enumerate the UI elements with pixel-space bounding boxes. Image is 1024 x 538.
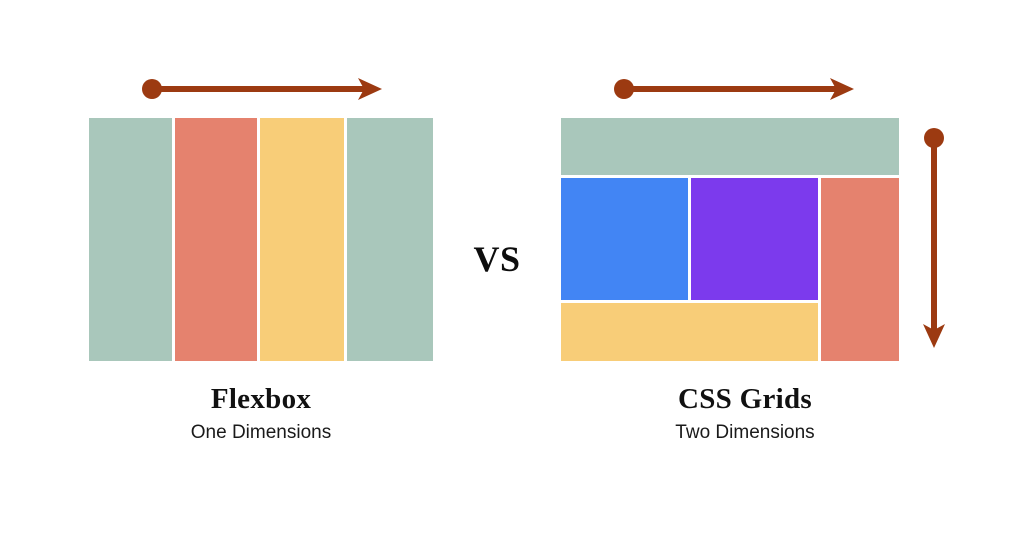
flexbox-main-axis-arrow-icon	[140, 76, 386, 104]
flexbox-title: Flexbox	[81, 382, 441, 416]
versus-label: VS	[457, 238, 537, 280]
cssgrids-title: CSS Grids	[565, 382, 925, 416]
flexbox-subtitle: One Dimensions	[81, 420, 441, 446]
grid-header-cell	[561, 118, 899, 175]
flexbox-diagram	[89, 118, 433, 361]
flexbox-column-1	[89, 118, 172, 361]
grid-blue-cell	[561, 178, 688, 300]
flexbox-column-4	[347, 118, 433, 361]
grid-purple-cell	[691, 178, 818, 300]
cssgrids-subtitle: Two Dimensions	[565, 420, 925, 446]
grid-footer-cell	[561, 303, 818, 361]
cssgrids-label-group: CSS Grids Two Dimensions	[565, 382, 925, 446]
flexbox-column-3	[260, 118, 344, 361]
infographic-canvas: VS Flexbox One Dimensions CSS Grids Two …	[0, 0, 1024, 538]
grid-side-cell	[821, 178, 899, 361]
grid-column-axis-arrow-icon	[920, 126, 948, 354]
grid-row-axis-arrow-icon	[612, 76, 858, 104]
css-grid-diagram	[561, 118, 899, 361]
flexbox-label-group: Flexbox One Dimensions	[81, 382, 441, 446]
flexbox-column-2	[175, 118, 257, 361]
